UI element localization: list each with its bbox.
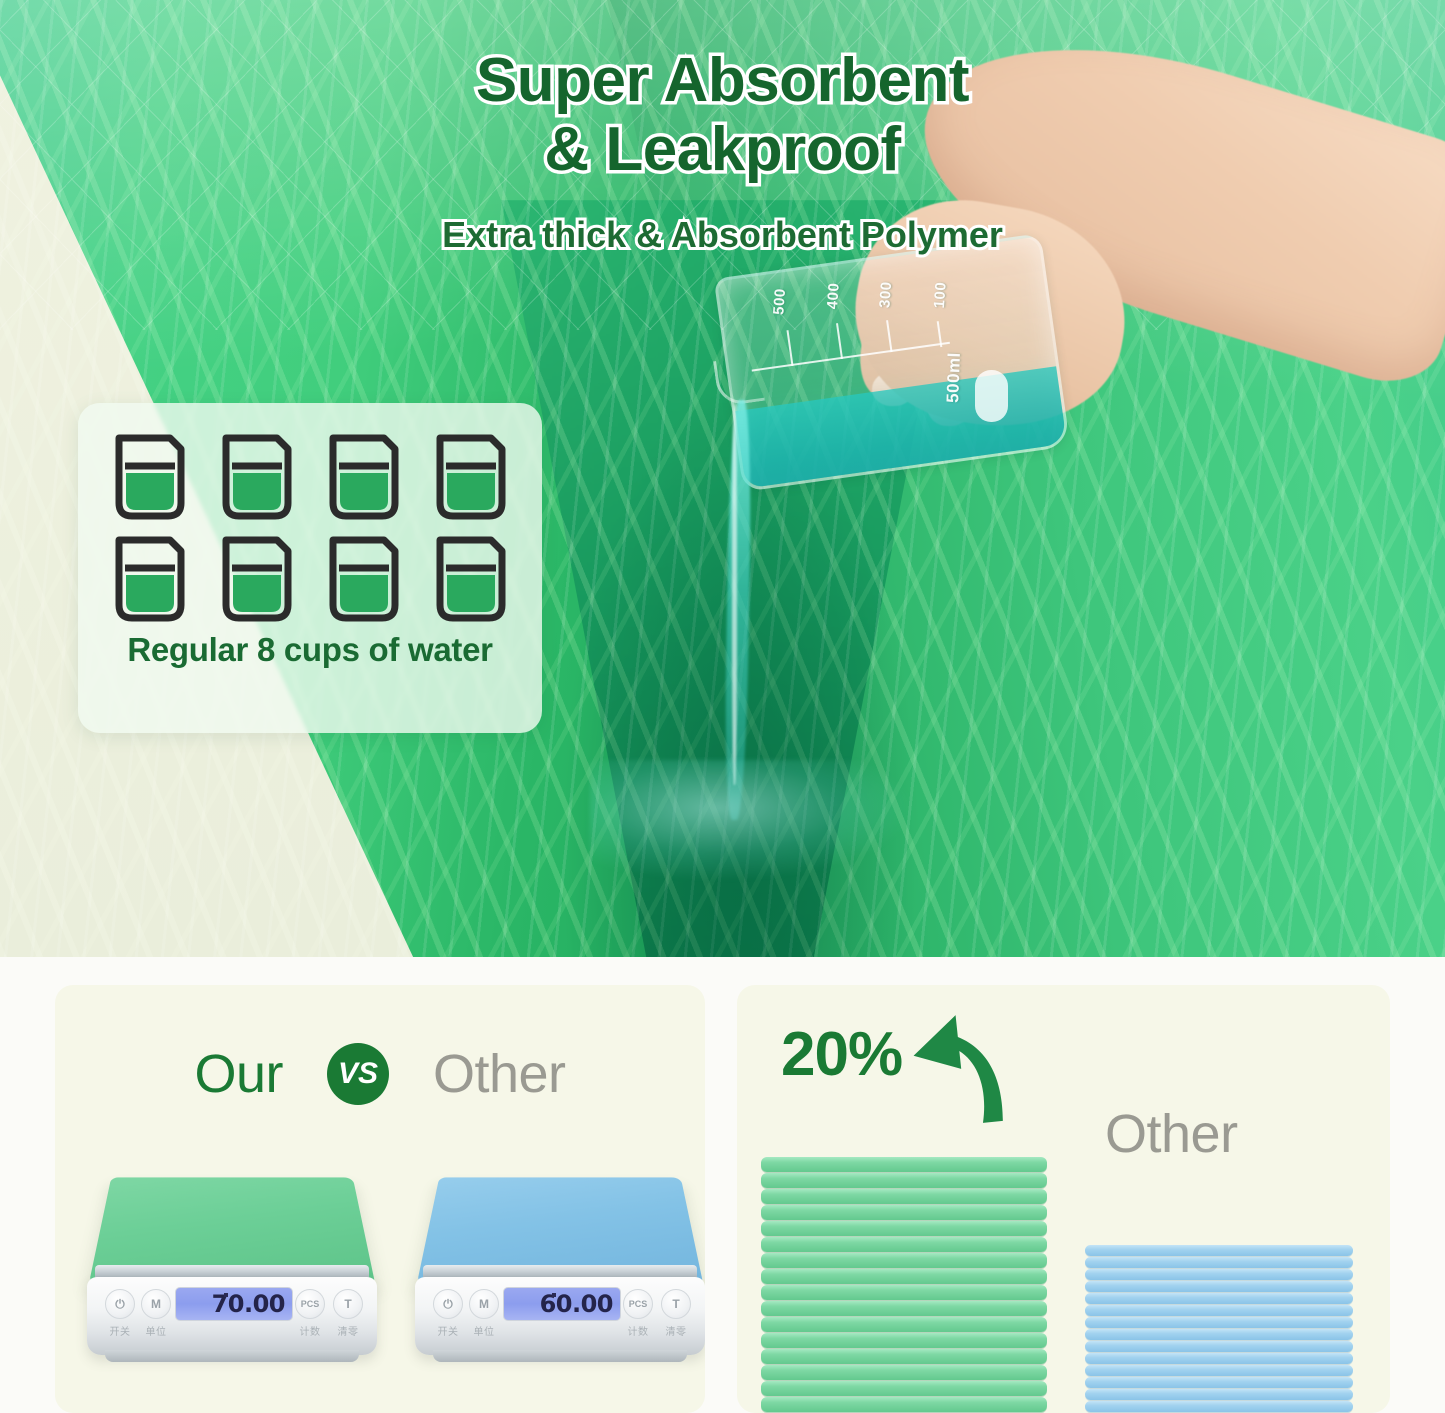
- stack-layer: [1085, 1389, 1353, 1400]
- water-capacity-callout-card: Regular 8 cups of water: [78, 403, 542, 733]
- lcd-indicator-dot: [552, 1293, 556, 1297]
- beaker-icon: [435, 433, 507, 521]
- beaker-icon: [328, 433, 400, 521]
- beaker-icon-grid: [104, 433, 516, 623]
- beaker-icon: [435, 535, 507, 623]
- curved-up-arrow-icon: [905, 1007, 1015, 1127]
- thickness-comparison-card: 20% Other: [737, 985, 1390, 1413]
- title-line-2: & Leakproof: [0, 115, 1445, 184]
- percent-label: 20%: [781, 1019, 902, 1090]
- stack-layer: [761, 1253, 1047, 1268]
- stack-layer: [1085, 1317, 1353, 1328]
- other-thickness-label: Other: [1105, 1103, 1238, 1165]
- water-stream-highlight: [732, 405, 737, 785]
- water-splash: [590, 760, 910, 880]
- beaker-tick-500: [787, 330, 794, 366]
- stack-layer: [761, 1237, 1047, 1252]
- stack-layer: [761, 1269, 1047, 1284]
- other-stack: [1085, 1245, 1353, 1413]
- count-button-label: 计数: [618, 1323, 658, 1338]
- stack-layer: [1085, 1269, 1353, 1280]
- other-scale-foot: [433, 1350, 687, 1362]
- stack-layer: [1085, 1257, 1353, 1268]
- our-label: Our: [194, 1043, 283, 1105]
- our-scale: 70.00 ⏻ 开关 M 单位 PCS 计数 T 清零: [87, 1147, 377, 1397]
- power-button-label: 开关: [428, 1323, 468, 1338]
- beaker-tick-300: [886, 320, 892, 352]
- count-button-label: 计数: [290, 1323, 330, 1338]
- beaker-label-500: 500: [770, 288, 789, 316]
- lcd-indicator-dot: [224, 1293, 228, 1297]
- beaker-sticker: [975, 370, 1008, 422]
- stack-layer: [761, 1189, 1047, 1204]
- stack-layer: [1085, 1377, 1353, 1388]
- tare-button[interactable]: T: [333, 1289, 363, 1319]
- title-line-1: Super Absorbent: [0, 46, 1445, 115]
- tare-button-label: 清零: [328, 1323, 368, 1338]
- stack-layer: [761, 1173, 1047, 1188]
- beaker-icon: [221, 433, 293, 521]
- stack-layer: [761, 1333, 1047, 1348]
- count-button[interactable]: PCS: [623, 1289, 653, 1319]
- beaker-label-100: 100: [931, 281, 950, 309]
- beaker-label-300: 300: [876, 281, 895, 309]
- other-scale: 60.00 ⏻ 开关 M 单位 PCS 计数 T 清零: [415, 1147, 705, 1397]
- hero-section: 500 400 300 100 500ml Super Absorbent & …: [0, 0, 1445, 957]
- comparison-section: Our VS Other 70.00 ⏻ 开关 M 单位 PCS 计数 T 清零: [0, 957, 1445, 1413]
- page-subtitle: Extra thick & Absorbent Polymer: [0, 214, 1445, 256]
- power-button[interactable]: ⏻: [433, 1289, 463, 1319]
- unit-button-label: 单位: [464, 1323, 504, 1338]
- stack-layer: [1085, 1245, 1353, 1256]
- stack-layer: [1085, 1293, 1353, 1304]
- count-button[interactable]: PCS: [295, 1289, 325, 1319]
- other-scale-body: 60.00 ⏻ 开关 M 单位 PCS 计数 T 清零: [415, 1277, 705, 1355]
- other-scale-reading: 60.00: [540, 1290, 613, 1318]
- beaker-icon: [328, 535, 400, 623]
- page-title: Super Absorbent & Leakproof: [0, 46, 1445, 185]
- measuring-beaker: 500 400 300 100 500ml: [714, 233, 1071, 492]
- tare-button[interactable]: T: [661, 1289, 691, 1319]
- stack-layer: [761, 1285, 1047, 1300]
- stack-layer: [1085, 1305, 1353, 1316]
- vs-badge: VS: [327, 1043, 389, 1105]
- stack-layer: [761, 1397, 1047, 1412]
- stack-layer: [1085, 1341, 1353, 1352]
- power-button[interactable]: ⏻: [105, 1289, 135, 1319]
- our-scale-display: 70.00: [175, 1287, 293, 1321]
- beaker-tick-400: [836, 323, 843, 359]
- our-scale-reading: 70.00: [212, 1290, 285, 1318]
- unit-button[interactable]: M: [141, 1289, 171, 1319]
- stack-layer: [761, 1349, 1047, 1364]
- power-button-label: 开关: [100, 1323, 140, 1338]
- stack-layer: [761, 1365, 1047, 1380]
- weight-comparison-card: Our VS Other 70.00 ⏻ 开关 M 单位 PCS 计数 T 清零: [55, 985, 705, 1413]
- beaker-icon: [114, 535, 186, 623]
- stack-layer: [1085, 1365, 1353, 1376]
- stack-layer: [1085, 1281, 1353, 1292]
- other-label: Other: [433, 1043, 566, 1105]
- stack-layer: [1085, 1353, 1353, 1364]
- unit-button[interactable]: M: [469, 1289, 499, 1319]
- beaker-label-400: 400: [824, 282, 843, 310]
- stack-layer: [761, 1301, 1047, 1316]
- comparison-header: Our VS Other: [55, 1043, 705, 1105]
- our-scale-foot: [105, 1350, 359, 1362]
- beaker-capacity-label: 500ml: [943, 352, 965, 403]
- stack-layer: [1085, 1401, 1353, 1412]
- beaker-icon: [221, 535, 293, 623]
- stack-layer: [761, 1157, 1047, 1172]
- beaker-tick-major: [752, 342, 950, 372]
- our-stack: [761, 1157, 1047, 1413]
- stack-layer: [761, 1221, 1047, 1236]
- cups-caption: Regular 8 cups of water: [104, 631, 516, 669]
- other-scale-display: 60.00: [503, 1287, 621, 1321]
- stack-layer: [1085, 1329, 1353, 1340]
- our-scale-body: 70.00 ⏻ 开关 M 单位 PCS 计数 T 清零: [87, 1277, 377, 1355]
- stack-layer: [761, 1381, 1047, 1396]
- beaker-icon: [114, 433, 186, 521]
- stack-layer: [761, 1317, 1047, 1332]
- tare-button-label: 清零: [656, 1323, 696, 1338]
- stack-layer: [761, 1205, 1047, 1220]
- unit-button-label: 单位: [136, 1323, 176, 1338]
